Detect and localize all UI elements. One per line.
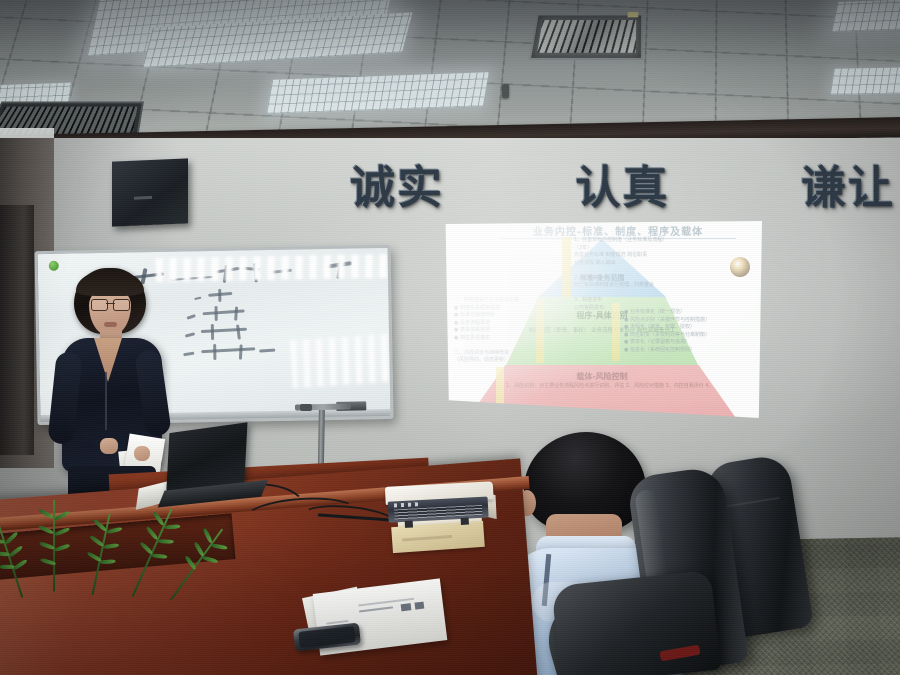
- office-chair-seat[interactable]: [551, 570, 721, 675]
- slogan-word-1: 诚实: [350, 165, 444, 210]
- slide-sphere-graphic: [730, 257, 750, 277]
- presenter-hand-left: [100, 438, 118, 454]
- slide-text-right: ● 业务标准化（统一规范） ● 风险点识别（关键环节与控制措施） ● 流程化（审…: [624, 309, 732, 354]
- wall-slogan: 诚实 认真 谦让: [350, 158, 895, 216]
- smartphone-screen[interactable]: [298, 626, 355, 648]
- slide-title: 业务内控-标准、制度、程序及载体: [498, 223, 738, 238]
- slide-text-left: 一、制度建设与业务标准衔接 ● 制度体系框架搭建 ● 标准与制度映射 ● 业务流…: [454, 297, 530, 365]
- presenter-glasses-icon: [91, 299, 130, 309]
- whiteboard-stand-clip: [300, 404, 312, 411]
- slide-text-top-right: 1、完善现有内控制度（业务标准及流程） （2年） 完善业务标准 制度规范 岗位职…: [574, 237, 698, 312]
- potted-fern-plant: [0, 478, 227, 614]
- pyramid-bottom-text: 1、风险识别：对主要业务流程风险点进行识别、评估 2、风险应对措施 3、内控自我…: [506, 382, 734, 390]
- wall-speaker-icon: [112, 158, 188, 226]
- wall-pillar-dark: [0, 205, 34, 455]
- slogan-word-2: 认真: [575, 165, 669, 210]
- projector[interactable]: [385, 481, 497, 533]
- presenter-hand-right: [134, 446, 150, 461]
- projection-screen: 业务内控-标准、制度、程序及载体 载体-风险控制 1、风险识别：对主要业务流程风…: [444, 221, 762, 418]
- presenter-dress-placket: [105, 372, 107, 430]
- slide-callout-bar: [562, 237, 571, 297]
- slide-callout-bar: [536, 299, 544, 363]
- pyramid-layer-bottom-label: 载体-风险控制: [466, 371, 738, 382]
- slogan-word-3: 谦让: [801, 165, 895, 210]
- presenter-fringe: [76, 270, 144, 296]
- presenter-mouth: [104, 322, 117, 327]
- conference-room-photo: 诚实 认真 谦让: [0, 0, 900, 675]
